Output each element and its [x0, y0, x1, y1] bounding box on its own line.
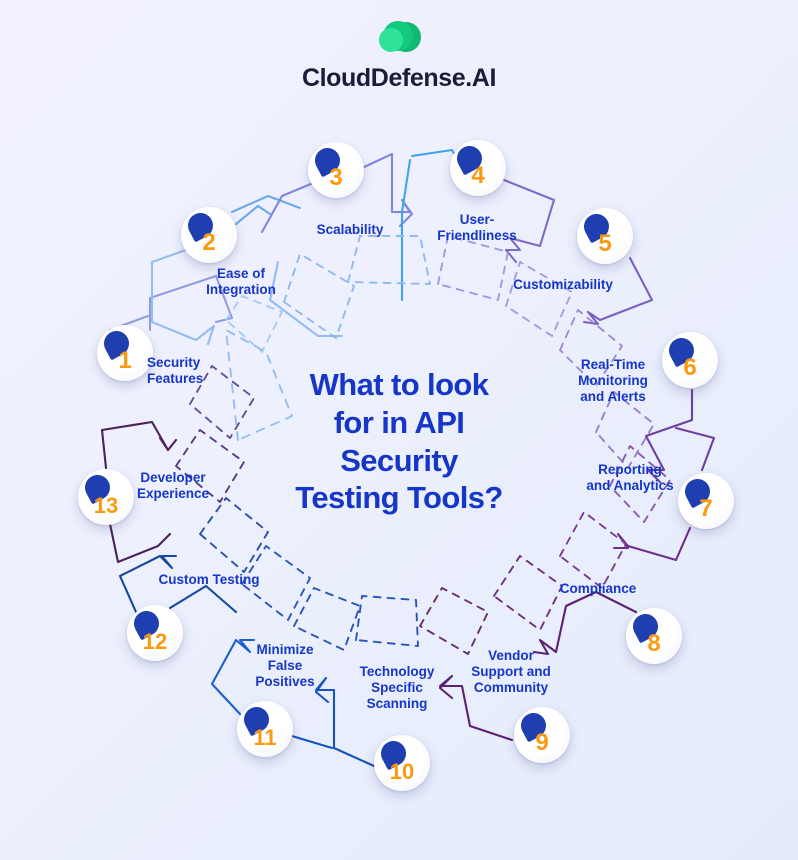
- title-line: for in API: [249, 404, 549, 442]
- step-badge-11[interactable]: 11: [237, 701, 293, 757]
- step-badge-3[interactable]: 3: [308, 142, 364, 198]
- step-label-3: Scalability: [317, 222, 384, 238]
- step-label-8: Compliance: [560, 581, 637, 597]
- step-number: 11: [237, 701, 293, 757]
- step-number: 8: [626, 608, 682, 664]
- step-label-13: Developer Experience: [137, 470, 209, 502]
- step-number: 10: [374, 735, 430, 791]
- step-badge-2[interactable]: 2: [181, 207, 237, 263]
- step-badge-8[interactable]: 8: [626, 608, 682, 664]
- step-badge-10[interactable]: 10: [374, 735, 430, 791]
- step-label-7: Reporting and Analytics: [586, 462, 673, 494]
- step-number: 1: [97, 325, 153, 381]
- step-badge-6[interactable]: 6: [662, 332, 718, 388]
- step-number: 7: [678, 473, 734, 529]
- step-badge-5[interactable]: 5: [577, 208, 633, 264]
- step-number: 3: [308, 142, 364, 198]
- step-badge-12[interactable]: 12: [127, 605, 183, 661]
- title-line: Security: [249, 442, 549, 480]
- step-badge-13[interactable]: 13: [78, 469, 134, 525]
- step-label-9: Vendor Support and Community: [471, 648, 551, 696]
- step-badge-9[interactable]: 9: [514, 707, 570, 763]
- step-label-10: Technology Specific Scanning: [360, 664, 435, 712]
- step-number: 9: [514, 707, 570, 763]
- step-badge-4[interactable]: 4: [450, 140, 506, 196]
- page-title: What to look for in API Security Testing…: [249, 366, 549, 517]
- title-line: Testing Tools?: [249, 479, 549, 517]
- step-number: 4: [450, 140, 506, 196]
- step-label-1: Security Features: [147, 355, 203, 387]
- step-badge-1[interactable]: 1: [97, 325, 153, 381]
- step-badge-7[interactable]: 7: [678, 473, 734, 529]
- step-label-2: Ease of Integration: [206, 266, 276, 298]
- step-label-12: Custom Testing: [159, 572, 260, 588]
- step-number: 2: [181, 207, 237, 263]
- step-label-4: User- Friendliness: [437, 212, 517, 244]
- step-number: 12: [127, 605, 183, 661]
- infographic-canvas: CloudDefense.AI: [0, 0, 798, 860]
- step-label-5: Customizability: [513, 277, 613, 293]
- step-number: 6: [662, 332, 718, 388]
- step-label-11: Minimize False Positives: [255, 642, 314, 690]
- step-label-6: Real-Time Monitoring and Alerts: [578, 357, 648, 405]
- title-line: What to look: [249, 366, 549, 404]
- step-number: 5: [577, 208, 633, 264]
- step-number: 13: [78, 469, 134, 525]
